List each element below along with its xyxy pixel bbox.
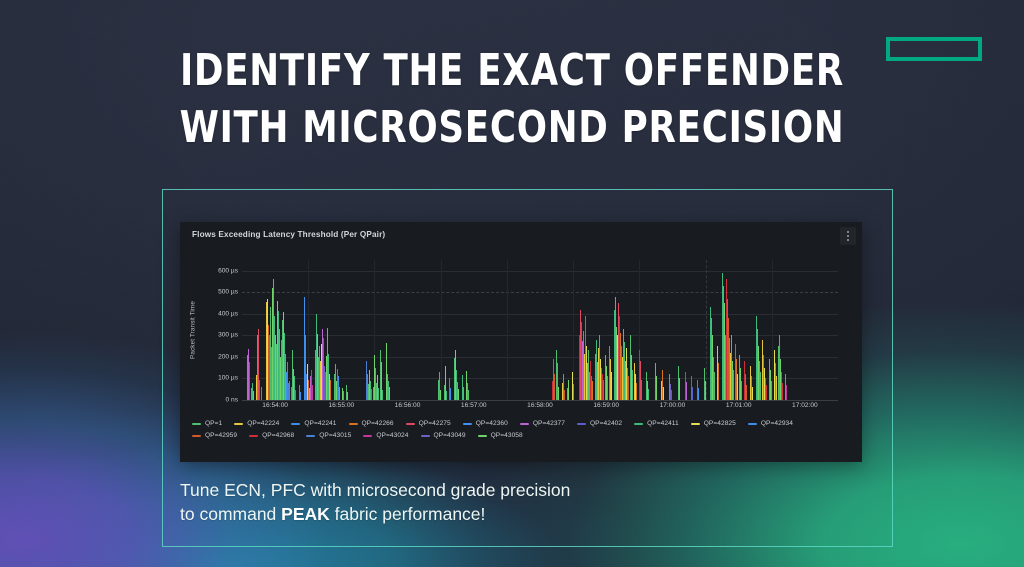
page-title: IDENTIFY THE EXACT OFFENDER WITH MICROSE…: [51, 42, 973, 156]
chart-bar: [554, 374, 555, 400]
chart-bar: [766, 385, 767, 400]
chart-bar: [382, 390, 383, 400]
legend-label: QP=42224: [247, 420, 279, 427]
chart-bar: [698, 388, 699, 400]
x-tick-label: 16:58:00: [527, 402, 553, 409]
gridline-horizontal: [242, 292, 838, 293]
chart-bar: [686, 382, 687, 400]
chart-legend: QP=1QP=42224QP=42241QP=42266QP=42275QP=4…: [180, 420, 862, 439]
legend-color-swatch: [192, 423, 201, 425]
gridline-horizontal: [242, 314, 838, 315]
legend-label: QP=42377: [533, 420, 565, 427]
legend-label: QP=43049: [434, 432, 466, 439]
chart-bar: [714, 372, 715, 400]
caption-emphasis: PEAK: [281, 504, 330, 524]
gridline-horizontal: [242, 357, 838, 358]
chart-bar: [564, 390, 565, 400]
legend-item[interactable]: QP=1: [192, 420, 222, 427]
legend-label: QP=42360: [476, 420, 508, 427]
caption-line-1: Tune ECN, PFC with microsecond grade pre…: [180, 478, 780, 502]
chart-bar: [776, 376, 777, 400]
chart-bar: [463, 387, 464, 400]
chart-bar: [628, 376, 629, 400]
legend-label: QP=42825: [704, 420, 736, 427]
chart-bar: [648, 389, 649, 400]
x-tick-label: 16:57:00: [461, 402, 487, 409]
chart-bar: [558, 387, 559, 400]
dashboard-panel: Flows Exceeding Latency Threshold (Per Q…: [180, 222, 862, 462]
legend-color-swatch: [192, 435, 201, 437]
chart-bar: [786, 385, 787, 400]
chart-bar: [378, 388, 379, 400]
x-tick-label: 17:01:00: [726, 402, 752, 409]
caption: Tune ECN, PFC with microsecond grade pre…: [180, 478, 780, 526]
legend-label: QP=42968: [262, 432, 294, 439]
legend-label: QP=42241: [304, 420, 336, 427]
headline-line-2: WITH MICROSECOND PRECISION: [51, 99, 973, 156]
chart-bar: [718, 363, 719, 400]
y-axis-title: Packet Transit Time: [188, 282, 198, 378]
legend-color-swatch: [306, 435, 315, 437]
legend-item[interactable]: QP=43058: [478, 432, 523, 439]
legend-item[interactable]: QP=42968: [249, 432, 294, 439]
chart-bar: [573, 384, 574, 400]
x-tick-label: 16:55:00: [328, 402, 354, 409]
legend-item[interactable]: QP=42241: [291, 420, 336, 427]
gridline-horizontal: [242, 378, 838, 379]
chart-bar: [632, 370, 633, 400]
y-tick-label: 0 ns: [226, 397, 238, 404]
legend-label: QP=42266: [362, 420, 394, 427]
legend-item[interactable]: QP=42402: [577, 420, 622, 427]
slide-canvas: IDENTIFY THE EXACT OFFENDER WITH MICROSE…: [0, 0, 1024, 567]
chart-bar: [752, 387, 753, 400]
x-axis-line: [242, 400, 838, 401]
y-tick-label: 100 µs: [218, 375, 238, 382]
caption-line-2: to command PEAK fabric performance!: [180, 502, 780, 526]
chart-bar: [603, 380, 604, 400]
chart-bar: [450, 388, 451, 400]
legend-color-swatch: [363, 435, 372, 437]
chart-bar: [679, 378, 680, 400]
legend-color-swatch: [349, 423, 358, 425]
legend-label: QP=43015: [319, 432, 351, 439]
chart-bar: [671, 390, 672, 400]
gridline-vertical: [706, 260, 707, 400]
plot-area[interactable]: [242, 260, 838, 400]
caption-line-2-pre: to command: [180, 504, 281, 524]
chart-bar: [347, 392, 348, 400]
legend-item[interactable]: QP=42377: [520, 420, 565, 427]
legend-item[interactable]: QP=42825: [691, 420, 736, 427]
x-tick-label: 16:59:00: [593, 402, 619, 409]
kebab-dot: [847, 231, 849, 233]
y-tick-label: 600 µs: [218, 267, 238, 274]
gridline-vertical: [507, 260, 508, 400]
chart-bar: [295, 390, 296, 400]
x-axis-ticks: 16:54:0016:55:0016:56:0016:57:0016:58:00…: [242, 402, 838, 416]
legend-label: QP=1: [205, 420, 222, 427]
hpe-logo: [886, 37, 982, 61]
chart-bar: [663, 387, 664, 400]
headline-line-1: IDENTIFY THE EXACT OFFENDER: [51, 42, 973, 99]
legend-item[interactable]: QP=42224: [234, 420, 279, 427]
legend-item[interactable]: QP=42360: [463, 420, 508, 427]
legend-label: QP=42411: [647, 420, 679, 427]
legend-item[interactable]: QP=42959: [192, 432, 237, 439]
caption-line-2-post: fabric performance!: [330, 504, 486, 524]
chart-bar: [371, 389, 372, 400]
legend-item[interactable]: QP=43049: [421, 432, 466, 439]
legend-color-swatch: [691, 423, 700, 425]
legend-item[interactable]: QP=42411: [634, 420, 679, 427]
chart-bar: [468, 390, 469, 400]
legend-color-swatch: [463, 423, 472, 425]
x-tick-label: 17:00:00: [660, 402, 686, 409]
chart-bar: [440, 390, 441, 400]
legend-item[interactable]: QP=42934: [748, 420, 793, 427]
chart-bar: [760, 372, 761, 400]
chart: Packet Transit Time 0 ns100 µs200 µs300 …: [180, 250, 862, 420]
chart-bar: [458, 389, 459, 400]
kebab-dot: [847, 235, 849, 237]
chart-bar: [249, 362, 250, 400]
gridline-horizontal: [242, 271, 838, 272]
chart-bar: [389, 387, 390, 400]
chart-bar: [611, 372, 612, 400]
legend-color-swatch: [634, 423, 643, 425]
legend-item[interactable]: QP=43024: [363, 432, 408, 439]
chart-bar: [741, 381, 742, 400]
chart-bar: [339, 387, 340, 400]
chart-bar: [636, 383, 637, 400]
kebab-menu-icon[interactable]: [840, 227, 856, 245]
legend-item[interactable]: QP=43015: [306, 432, 351, 439]
chart-bar: [568, 380, 569, 400]
legend-label: QP=42275: [419, 420, 451, 427]
gridline-horizontal: [242, 335, 838, 336]
gridline-vertical: [441, 260, 442, 400]
chart-bar: [253, 391, 254, 400]
x-tick-label: 16:56:00: [395, 402, 421, 409]
legend-color-swatch: [748, 423, 757, 425]
chart-bar: [746, 385, 747, 400]
y-tick-label: 500 µs: [218, 289, 238, 296]
legend-label: QP=43058: [491, 432, 523, 439]
legend-color-swatch: [291, 423, 300, 425]
chart-bar: [343, 391, 344, 400]
chart-bar: [446, 391, 447, 400]
chart-bar: [737, 374, 738, 400]
chart-bar: [607, 376, 608, 400]
chart-bar: [692, 387, 693, 400]
chart-bar: [312, 385, 313, 400]
legend-color-swatch: [478, 435, 487, 437]
x-tick-label: 16:54:00: [262, 402, 288, 409]
chart-bar: [771, 381, 772, 400]
chart-bar: [592, 381, 593, 400]
y-tick-label: 300 µs: [218, 332, 238, 339]
chart-bar: [641, 380, 642, 400]
gridline-vertical: [573, 260, 574, 400]
gridline-vertical: [772, 260, 773, 400]
legend-color-swatch: [249, 435, 258, 437]
y-tick-label: 200 µs: [218, 353, 238, 360]
legend-color-swatch: [577, 423, 586, 425]
y-axis-ticks: 0 ns100 µs200 µs300 µs400 µs500 µs600 µs: [198, 260, 238, 400]
legend-item[interactable]: QP=42275: [406, 420, 451, 427]
y-tick-label: 400 µs: [218, 310, 238, 317]
panel-header: Flows Exceeding Latency Threshold (Per Q…: [180, 222, 862, 248]
chart-bar: [656, 376, 657, 400]
legend-label: QP=42959: [205, 432, 237, 439]
chart-bar: [705, 381, 706, 400]
chart-bar: [782, 383, 783, 400]
kebab-dot: [847, 239, 849, 241]
chart-bar: [300, 392, 301, 400]
chart-bar: [733, 370, 734, 400]
legend-label: QP=42934: [761, 420, 793, 427]
legend-color-swatch: [520, 423, 529, 425]
chart-bar: [330, 380, 331, 400]
x-tick-label: 17:02:00: [792, 402, 818, 409]
legend-item[interactable]: QP=42266: [349, 420, 394, 427]
legend-label: QP=42402: [590, 420, 622, 427]
legend-color-swatch: [406, 423, 415, 425]
chart-bar: [289, 381, 290, 400]
panel-title: Flows Exceeding Latency Threshold (Per Q…: [192, 230, 862, 239]
legend-color-swatch: [421, 435, 430, 437]
legend-label: QP=43024: [376, 432, 408, 439]
chart-bar: [259, 380, 260, 400]
legend-color-swatch: [234, 423, 243, 425]
chart-bar: [261, 387, 262, 400]
